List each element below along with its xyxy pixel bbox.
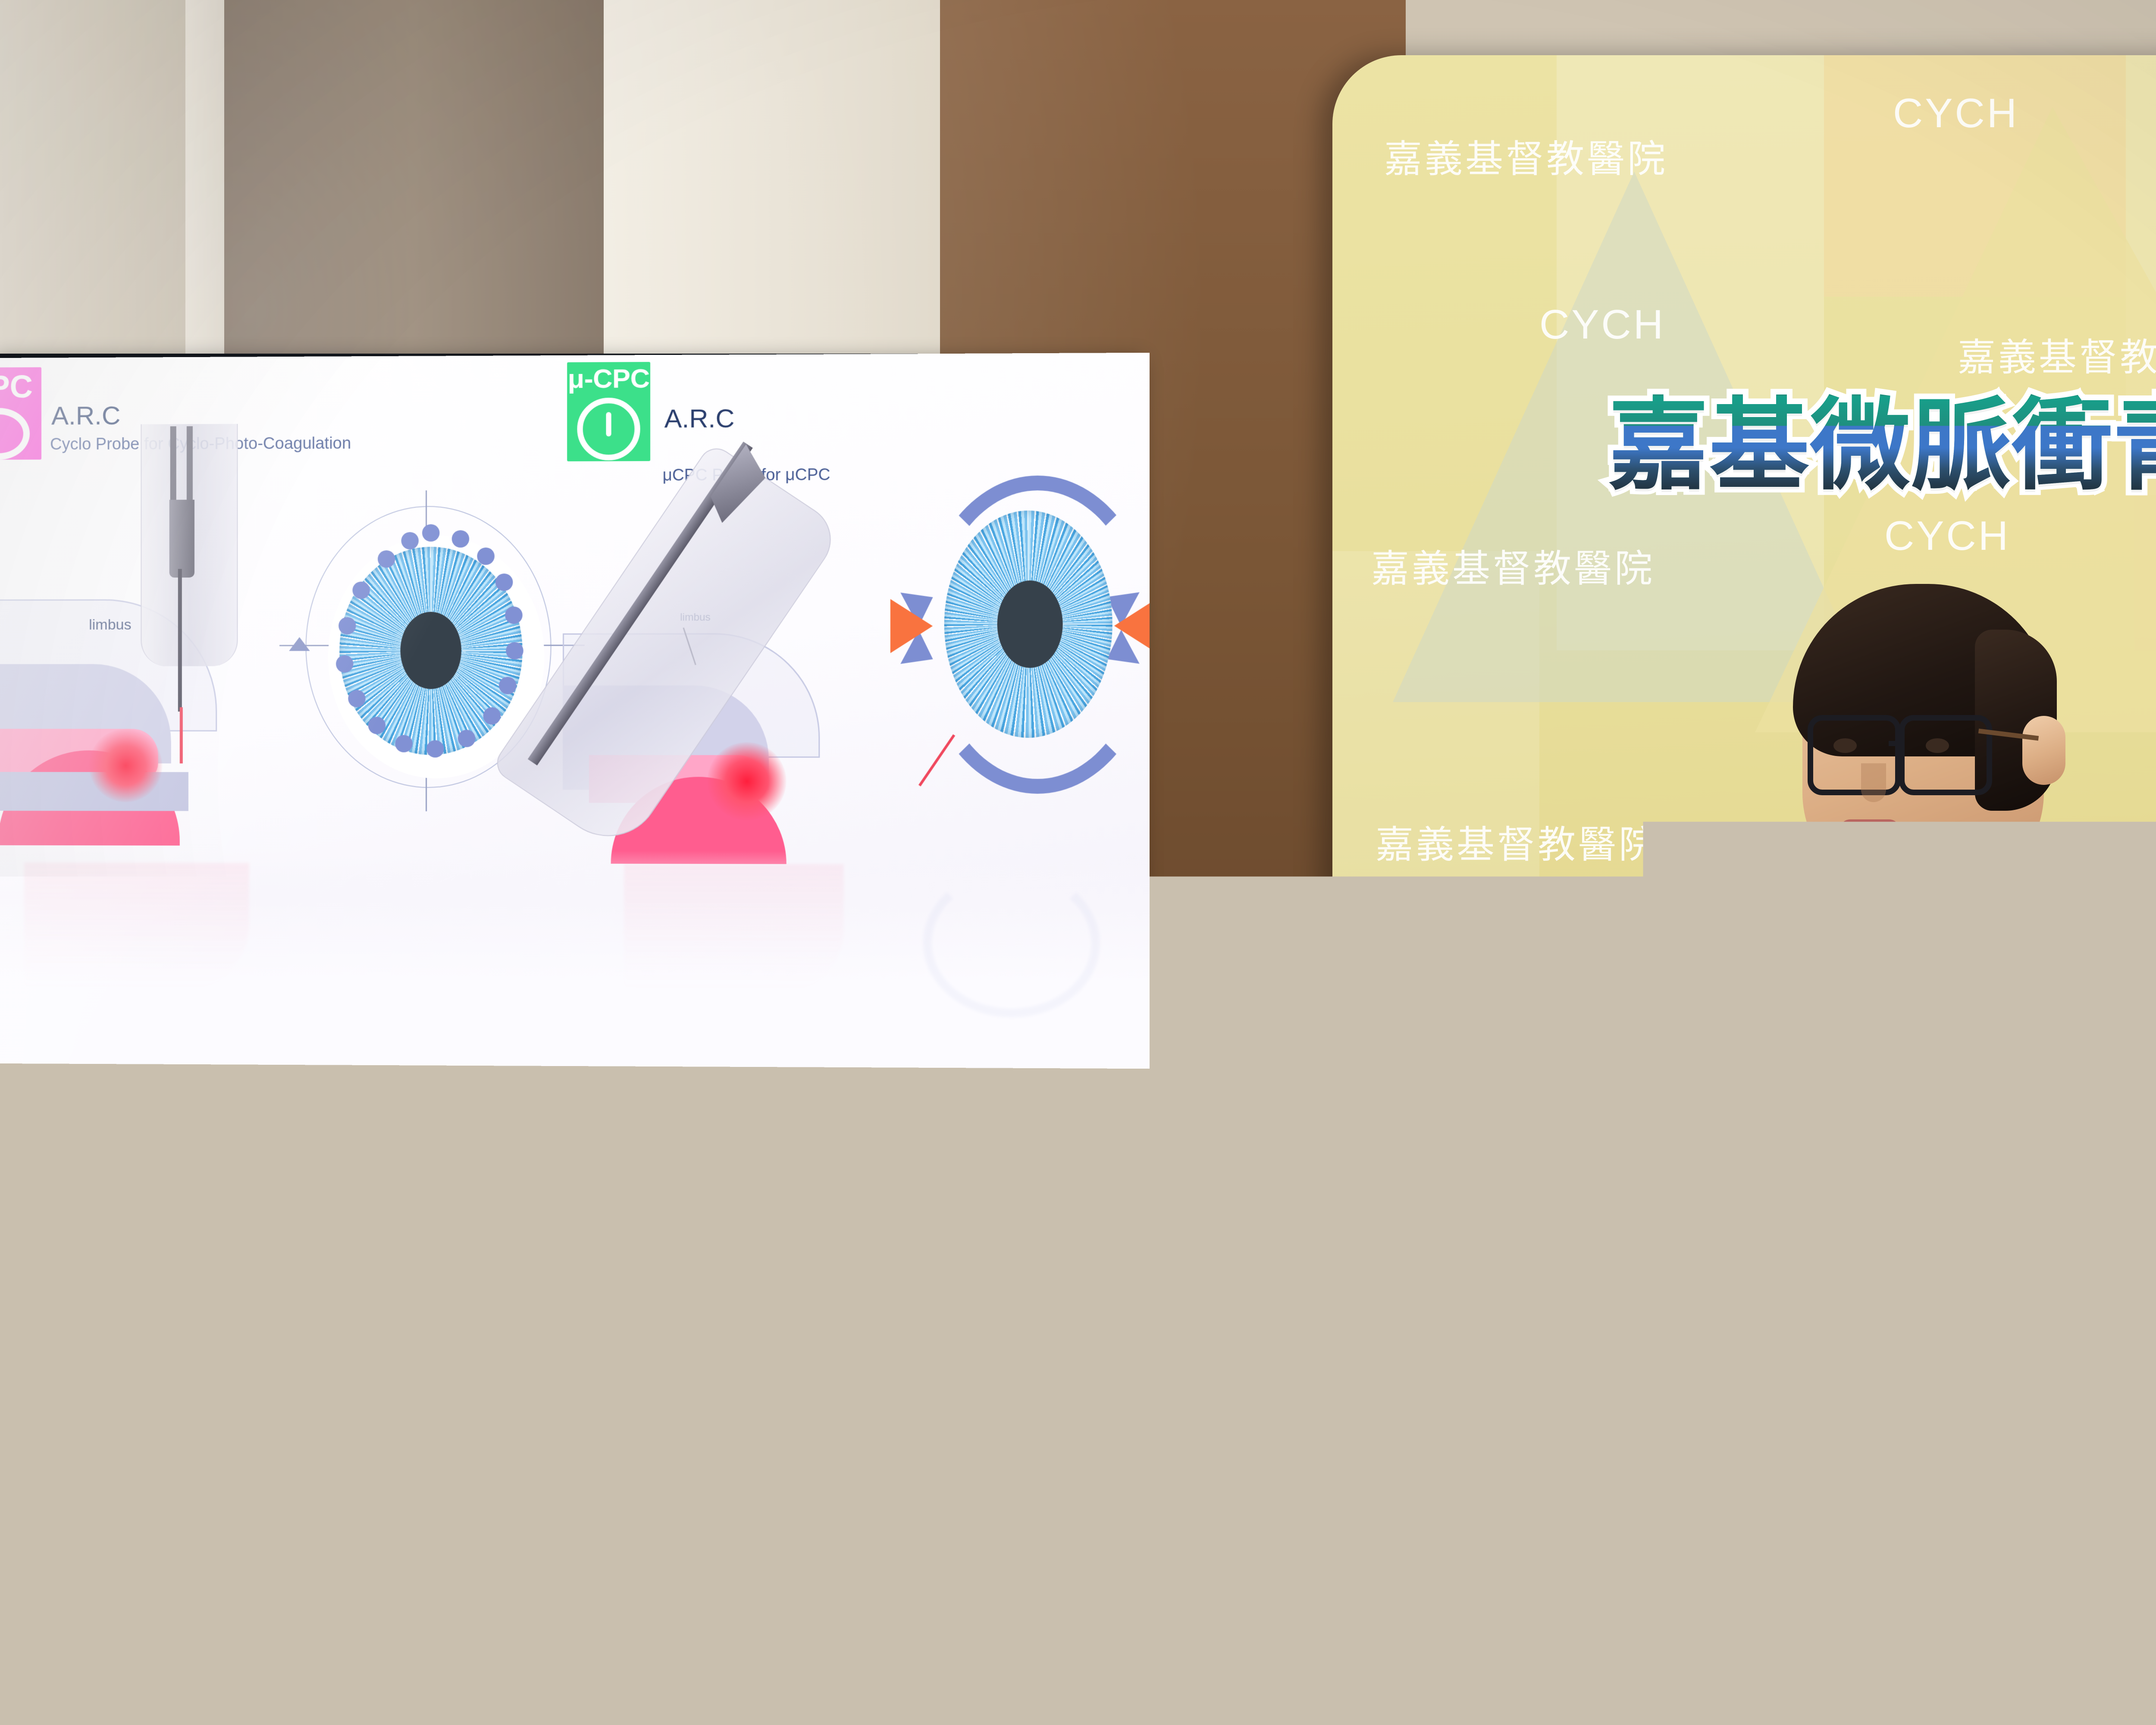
finger-crease <box>1802 1048 1910 1060</box>
eyeglasses-right-lens <box>1899 715 1992 795</box>
banner-watermark-en: CYCH <box>1893 90 2019 137</box>
audience-member-left <box>56 1190 651 1725</box>
audience-left-head <box>142 1195 440 1496</box>
banner-watermark-cn: 嘉義基督教醫院 <box>1958 327 2156 382</box>
pupil <box>400 612 461 689</box>
treatment-dot <box>506 642 523 659</box>
audience-left-crown-thinning <box>237 1242 293 1320</box>
presentation-display[interactable]: CPC A.R.C Cyclo Probe for Cyclo-Photo-Co… <box>0 354 1141 1069</box>
treatment-dot <box>505 606 523 624</box>
eyeglasses-bridge <box>1889 741 1902 746</box>
cpc-laser-beam <box>180 707 183 763</box>
slide-canvas: CPC A.R.C Cyclo Probe for Cyclo-Photo-Co… <box>0 353 1150 1069</box>
laser-spot <box>89 729 162 802</box>
treatment-dot <box>499 677 517 694</box>
banner-headline: 嘉基微脈衝青 <box>1608 396 2156 496</box>
ucpc-title: A.R.C <box>664 403 735 433</box>
cpc-badge: CPC <box>0 367 41 460</box>
laser-spot <box>707 742 786 821</box>
treatment-dot <box>477 548 494 565</box>
audience-right-head <box>1574 1225 1915 1583</box>
ucpc-eye-front-view <box>888 462 1150 795</box>
audience-member-right <box>1501 1207 2061 1725</box>
reflection-eye-arc <box>923 869 1100 1018</box>
finger-crease <box>1802 1087 1906 1099</box>
treatment-dot <box>378 550 395 568</box>
treatment-dot <box>348 690 365 707</box>
audience-right-crown-part <box>1686 1246 1738 1345</box>
cpc-title: A.R.C <box>51 401 120 431</box>
eye-right <box>1926 738 1949 753</box>
banner-watermark-en: CYCH <box>1539 301 1665 348</box>
treatment-dot <box>401 532 418 549</box>
cpc-badge-ring-icon <box>0 408 30 460</box>
treatment-dot <box>452 530 469 547</box>
screenshot-root: CPC A.R.C Cyclo Probe for Cyclo-Photo-Co… <box>0 0 2156 1725</box>
treatment-dot <box>495 574 513 591</box>
audience-left-ear <box>128 1350 170 1427</box>
banner-watermark-en: CYCH <box>1884 512 2010 560</box>
ucpc-badge-ring-icon <box>577 398 640 461</box>
treatment-dot <box>368 717 385 734</box>
rotation-marker-icon <box>289 637 310 651</box>
banner-watermark-cn: 嘉義基督教醫院 <box>1384 129 1668 183</box>
nose <box>1861 763 1886 802</box>
treatment-dot <box>483 707 501 724</box>
eye-left <box>1833 738 1857 753</box>
treatment-dot <box>338 617 356 634</box>
treatment-dot <box>352 582 370 599</box>
reflection-left <box>24 862 249 993</box>
cpc-probe-needle <box>178 569 182 712</box>
reflection-right <box>624 864 843 995</box>
mouth <box>1839 819 1900 841</box>
direction-marker-right-icon <box>1114 599 1150 653</box>
ucpc-badge-label: μ-CPC <box>568 365 650 392</box>
treatment-dot <box>336 655 353 672</box>
ear <box>2022 716 2065 785</box>
cpc-badge-label: CPC <box>0 371 32 403</box>
cpc-probe-tip <box>169 500 194 578</box>
treatment-dot <box>422 524 439 542</box>
ucpc-badge: μ-CPC <box>567 362 650 461</box>
audience-right-ear <box>1559 1414 1607 1505</box>
pupil <box>997 580 1063 668</box>
cpc-limbus-label: limbus <box>89 617 131 634</box>
wristwatch-face <box>1913 1154 1956 1197</box>
treatment-dot <box>426 740 444 757</box>
treatment-dot <box>395 735 412 752</box>
treatment-dot <box>458 730 475 747</box>
cart-wheel-right <box>1026 1479 1164 1505</box>
eyeglasses-left-lens <box>1808 715 1901 795</box>
finger-crease <box>1802 1009 1910 1021</box>
direction-marker-left-icon <box>890 599 933 653</box>
